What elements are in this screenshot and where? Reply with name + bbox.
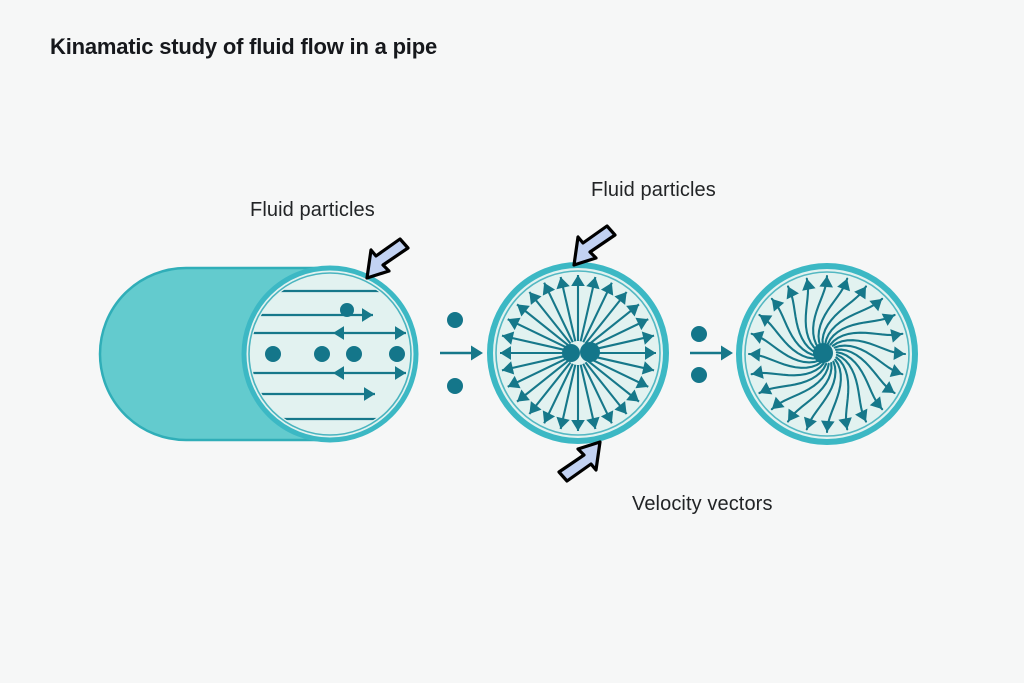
- pointer-velocity-vectors-glyph: [559, 442, 600, 481]
- radial-field-center-blob-0: [562, 344, 580, 362]
- connector-2-arrow-head: [721, 346, 733, 361]
- pointer-fluid-particles-1: [367, 239, 408, 278]
- spiral-field-center-blob-0: [813, 343, 833, 363]
- fluid-particle-dot-1: [265, 346, 281, 362]
- fluid-flow-diagram: [0, 0, 1024, 683]
- fluid-particle-dot-3: [346, 346, 362, 362]
- stage-spiral-velocity-field: [739, 266, 915, 442]
- stage-pipe-with-cross-section: [100, 268, 416, 440]
- pointer-fluid-particles-1-glyph: [367, 239, 408, 278]
- radial-field-center-blob-1: [580, 342, 600, 362]
- connector-2-dot-0: [691, 326, 707, 342]
- annotation-velocity-vectors: Velocity vectors: [632, 493, 773, 516]
- connector-1-dot-0: [447, 312, 463, 328]
- connector-1-arrow-head: [471, 346, 483, 361]
- pointer-fluid-particles-2-glyph: [574, 226, 615, 265]
- connector-1-dot-1: [447, 378, 463, 394]
- annotation-fluid-particles-1: Fluid particles: [250, 199, 375, 222]
- pointer-velocity-vectors: [559, 442, 600, 481]
- connector-2: [690, 326, 733, 383]
- annotation-fluid-particles-2: Fluid particles: [591, 179, 716, 202]
- fluid-particle-dot-2: [314, 346, 330, 362]
- connector-2-dot-1: [691, 367, 707, 383]
- pointer-fluid-particles-2: [574, 226, 615, 265]
- stage-radial-velocity-field: [490, 265, 666, 441]
- fluid-particle-dot-4: [389, 346, 405, 362]
- connector-1: [440, 312, 483, 394]
- fluid-particle-dot-0: [340, 303, 354, 317]
